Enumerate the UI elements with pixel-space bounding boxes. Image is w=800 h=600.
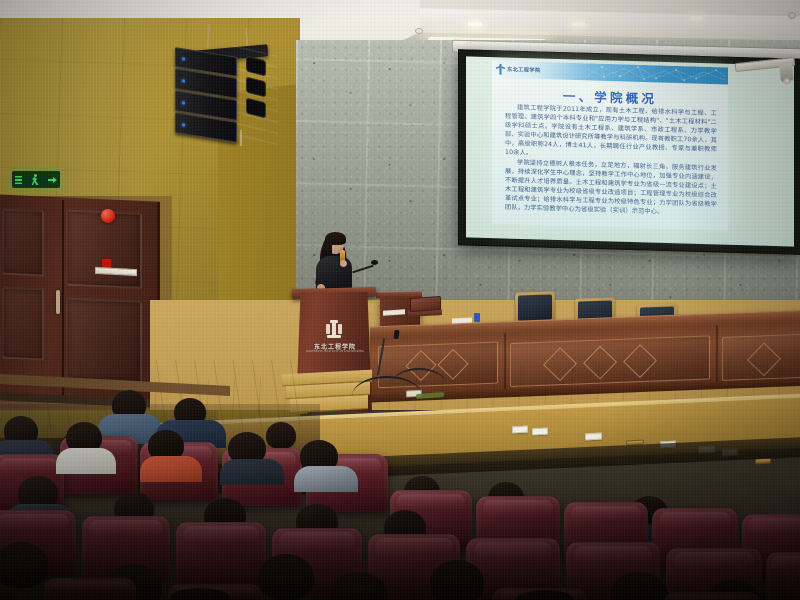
water-cup <box>474 313 480 322</box>
speaker-safety-line <box>240 130 242 146</box>
projector-lens-icon <box>783 78 791 84</box>
presenter-speaker <box>312 232 362 294</box>
arrow-right-icon <box>48 175 57 184</box>
table-documents <box>452 317 472 323</box>
line-array-speaker-cluster <box>175 52 241 138</box>
downlight <box>572 22 585 26</box>
presenter-mic-hand <box>340 260 347 267</box>
emergency-exit-sign <box>12 171 60 188</box>
screen-glare <box>492 60 728 230</box>
audience-head <box>266 422 296 449</box>
audience-foreground-shading <box>0 470 800 600</box>
downlight <box>468 22 482 26</box>
podium-institution-subtitle: NORTHEAST INSTITUTE OF ENGINEERING <box>304 350 366 353</box>
fire-alarm-bell-icon <box>101 209 115 223</box>
exit-sign-bars <box>15 175 22 184</box>
smoke-detector-icon <box>788 12 796 19</box>
downlight <box>690 16 703 20</box>
podium-emblem-icon <box>325 320 343 340</box>
presenter-laptop[interactable] <box>410 296 441 312</box>
auditorium-photo: 东北工程学院 一、学院概况 建筑工程学院于2011年成立，现有土木工程、给排水科… <box>0 0 800 600</box>
door-handle[interactable] <box>56 290 60 314</box>
running-man-icon <box>31 174 40 185</box>
smoke-detector-icon <box>415 28 423 34</box>
gooseneck-microphone-head <box>371 260 378 265</box>
presentation-slide: 东北工程学院 一、学院概况 建筑工程学院于2011年成立，现有土木工程、给排水科… <box>492 60 728 230</box>
